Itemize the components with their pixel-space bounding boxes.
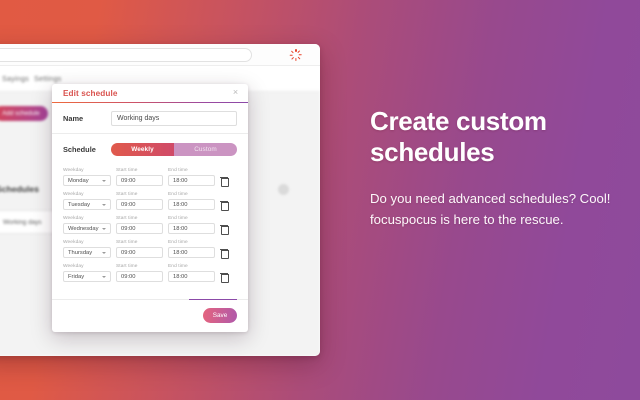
schedule-label: Schedule: [63, 145, 111, 154]
name-row: Name Working days: [63, 103, 237, 133]
table-row: Weekday Wednesday Start time 09:00 End t…: [63, 216, 237, 234]
end-time-input[interactable]: 18:00: [168, 223, 215, 235]
weekday-select[interactable]: Monday: [63, 175, 111, 187]
start-time-input[interactable]: 09:00: [116, 223, 163, 235]
promo-body: Do you need advanced schedules? Cool! fo…: [370, 189, 615, 230]
weekday-select[interactable]: Friday: [63, 271, 111, 283]
end-time-cell: End time 18:00: [168, 264, 215, 282]
weekday-column-label: Weekday: [63, 168, 111, 173]
start-time-cell: Start time 09:00: [116, 168, 163, 186]
chevron-down-icon: [102, 204, 106, 206]
weekday-column-label: Weekday: [63, 216, 111, 221]
toggle-weekly[interactable]: Weekly: [111, 143, 174, 156]
toggle-custom[interactable]: Custom: [174, 143, 237, 156]
browser-toolbar: [0, 44, 320, 66]
weekday-cell: Weekday Wednesday: [63, 216, 111, 234]
start-column-label: Start time: [116, 216, 163, 221]
table-row: Weekday Monday Start time 09:00 End time…: [63, 168, 237, 186]
end-time-cell: End time 18:00: [168, 192, 215, 210]
table-row: Weekday Thursday Start time 09:00 End ti…: [63, 240, 237, 258]
start-time-cell: Start time 09:00: [116, 216, 163, 234]
trash-icon[interactable]: [220, 200, 228, 209]
start-time-input[interactable]: 09:00: [116, 271, 163, 283]
end-time-input[interactable]: 18:00: [168, 247, 215, 259]
start-column-label: Start time: [116, 264, 163, 269]
weekday-select[interactable]: Tuesday: [63, 199, 111, 211]
chevron-down-icon: [102, 276, 106, 278]
start-time-input[interactable]: 09:00: [116, 247, 163, 259]
weekday-column-label: Weekday: [63, 264, 111, 269]
end-time-cell: End time 18:00: [168, 240, 215, 258]
start-time-cell: Start time 09:00: [116, 264, 163, 282]
promo-title: Create custom schedules: [370, 106, 615, 167]
trash-icon[interactable]: [220, 272, 228, 281]
weekday-cell: Weekday Friday: [63, 264, 111, 282]
start-time-cell: Start time 09:00: [116, 192, 163, 210]
trash-icon[interactable]: [220, 248, 228, 257]
weekday-cell: Weekday Monday: [63, 168, 111, 186]
end-time-input[interactable]: 18:00: [168, 175, 215, 187]
table-row: Weekday Tuesday Start time 09:00 End tim…: [63, 192, 237, 210]
dialog-title: Edit schedule: [63, 89, 118, 98]
end-column-label: End time: [168, 192, 215, 197]
promo-banner: Sayings Settings Add schedule Schedules …: [0, 0, 640, 400]
end-column-label: End time: [168, 240, 215, 245]
end-column-label: End time: [168, 264, 215, 269]
close-icon[interactable]: ×: [231, 88, 240, 97]
start-column-label: Start time: [116, 168, 163, 173]
end-time-cell: End time 18:00: [168, 216, 215, 234]
decorative-dot: [278, 184, 289, 195]
schedule-card-label: Working days: [3, 219, 42, 226]
weekday-select[interactable]: Thursday: [63, 247, 111, 259]
weekday-value: Thursday: [68, 250, 92, 256]
loading-spinner-icon: [290, 49, 302, 61]
promo-title-line-1: Create custom: [370, 106, 615, 137]
weekday-column-label: Weekday: [63, 192, 111, 197]
schedule-row: Schedule Weekly Custom: [63, 134, 237, 164]
add-schedule-button[interactable]: Add schedule: [0, 106, 48, 121]
end-time-cell: End time 18:00: [168, 168, 215, 186]
save-button[interactable]: Save: [203, 308, 237, 323]
weekday-column-label: Weekday: [63, 240, 111, 245]
weekday-cell: Weekday Thursday: [63, 240, 111, 258]
schedules-heading: Schedules: [0, 184, 39, 194]
name-input[interactable]: Working days: [111, 111, 237, 126]
schedule-card[interactable]: Working days: [0, 210, 60, 234]
chevron-down-icon: [102, 252, 106, 254]
promo-title-line-2: schedules: [370, 137, 615, 168]
end-column-label: End time: [168, 216, 215, 221]
weekday-value: Tuesday: [68, 202, 90, 208]
schedule-mode-toggle[interactable]: Weekly Custom: [111, 143, 237, 156]
trash-icon[interactable]: [220, 224, 228, 233]
chevron-down-icon: [102, 180, 106, 182]
weekday-value: Monday: [68, 178, 89, 184]
table-row: Weekday Friday Start time 09:00 End time…: [63, 264, 237, 282]
end-time-input[interactable]: 18:00: [168, 199, 215, 211]
weekday-cell: Weekday Tuesday: [63, 192, 111, 210]
end-column-label: End time: [168, 168, 215, 173]
weekday-value: Wednesday: [68, 226, 99, 232]
trash-icon[interactable]: [220, 176, 228, 185]
nav-item-sayings[interactable]: Sayings: [2, 74, 29, 83]
end-time-input[interactable]: 18:00: [168, 271, 215, 283]
dialog-header: Edit schedule ×: [52, 84, 248, 102]
name-label: Name: [63, 114, 111, 123]
start-column-label: Start time: [116, 240, 163, 245]
weekday-value: Friday: [68, 274, 84, 280]
chevron-down-icon: [102, 228, 106, 230]
edit-schedule-dialog: Edit schedule × Name Working days Schedu…: [52, 84, 248, 332]
weekday-rows: Weekday Monday Start time 09:00 End time…: [63, 168, 237, 282]
footer-accent-bar: [189, 299, 237, 301]
start-time-input[interactable]: 09:00: [116, 175, 163, 187]
schedules-count: 1: [35, 186, 39, 193]
weekday-select[interactable]: Wednesday: [63, 223, 111, 235]
nav-item-settings[interactable]: Settings: [34, 74, 62, 83]
start-time-input[interactable]: 09:00: [116, 199, 163, 211]
url-bar[interactable]: [0, 48, 252, 62]
dialog-body: Name Working days Schedule Weekly Custom…: [52, 103, 248, 282]
dialog-footer: Save: [52, 299, 248, 332]
promo-text-block: Create custom schedules Do you need adva…: [370, 106, 615, 230]
start-time-cell: Start time 09:00: [116, 240, 163, 258]
start-column-label: Start time: [116, 192, 163, 197]
